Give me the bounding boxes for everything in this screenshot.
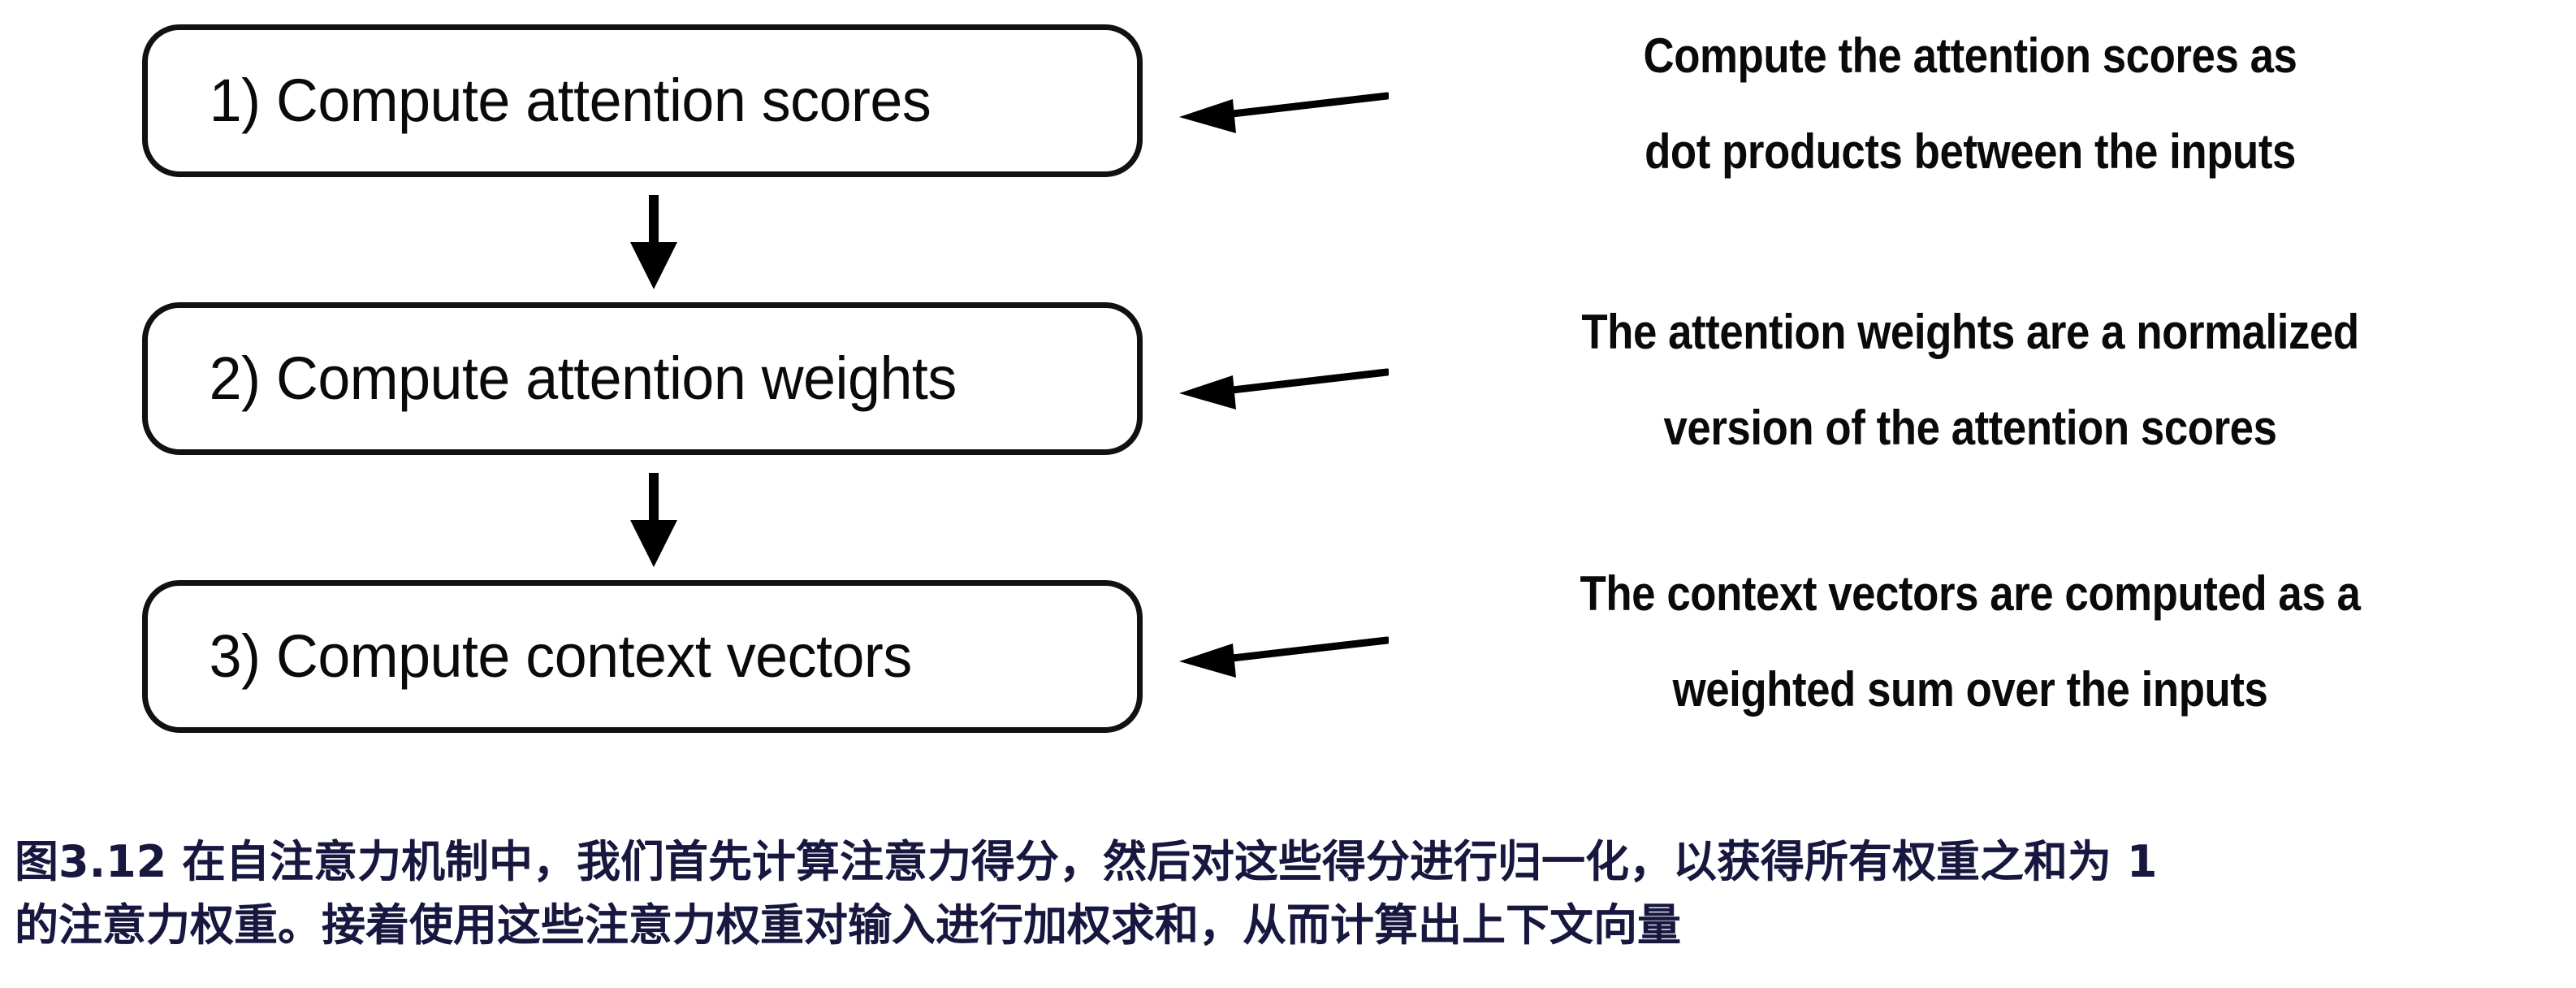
arrow-left-icon [1169,351,1389,416]
annotation-line: Compute the attention scores as [1470,8,2470,104]
step-box-label: 1) Compute attention scores [148,71,931,131]
figure-caption-line: 图3.12 在自注意力机制中，我们首先计算注意力得分，然后对这些得分进行归一化，… [15,830,2565,894]
step-box-label: 2) Compute attention weights [148,349,957,409]
step-box-compute-context-vectors[interactable]: 3) Compute context vectors [142,580,1143,733]
annotation-line: weighted sum over the inputs [1470,642,2470,738]
figure-caption: 图3.12 在自注意力机制中，我们首先计算注意力得分，然后对这些得分进行归一化，… [15,830,2565,957]
arrow-down-icon [627,195,681,291]
figure-caption-line: 的注意力权重。接着使用这些注意力权重对输入进行加权求和，从而计算出上下文向量 [15,894,2565,957]
annotation-attention-scores: Compute the attention scores as dot prod… [1470,8,2470,200]
figure-page: 1) Compute attention scores 2) Compute a… [0,0,2576,988]
annotation-line: The attention weights are a normalized [1470,284,2470,380]
step-box-compute-attention-scores[interactable]: 1) Compute attention scores [142,24,1143,177]
arrow-down-icon [627,473,681,569]
annotation-line: dot products between the inputs [1470,104,2470,200]
arrow-left-icon [1169,619,1389,684]
annotation-attention-weights: The attention weights are a normalized v… [1470,284,2470,476]
annotation-line: version of the attention scores [1470,380,2470,476]
annotation-line: The context vectors are computed as a [1470,546,2470,642]
arrow-left-icon [1169,75,1389,140]
step-box-label: 3) Compute context vectors [148,626,912,687]
annotation-context-vectors: The context vectors are computed as a we… [1470,546,2470,738]
attention-flow-diagram: 1) Compute attention scores 2) Compute a… [0,0,2576,780]
step-box-compute-attention-weights[interactable]: 2) Compute attention weights [142,302,1143,455]
